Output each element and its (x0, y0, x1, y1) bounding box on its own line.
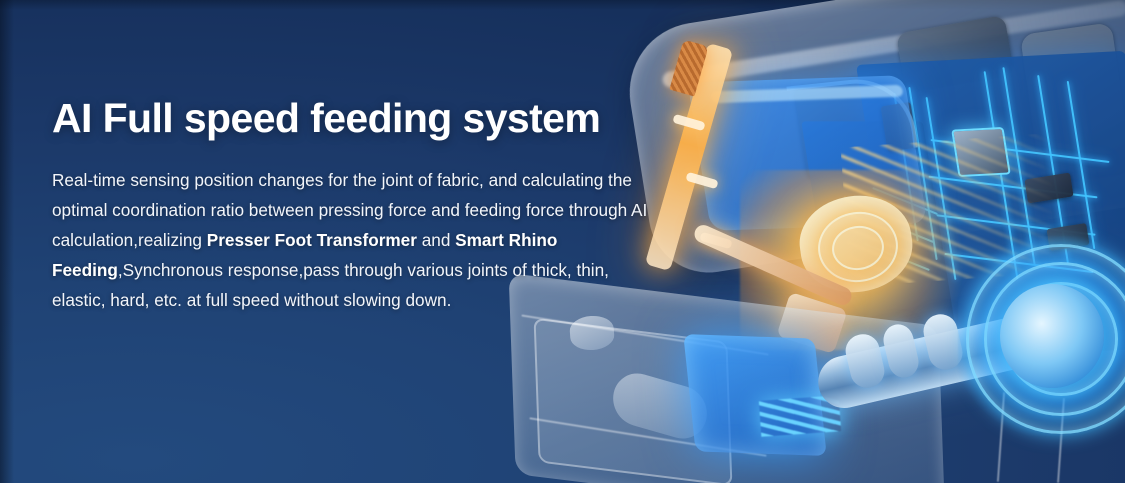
highlight-presser-foot-transformer: Presser Foot Transformer (207, 230, 417, 250)
motor-hub (1000, 284, 1104, 388)
paragraph-segment-3: ,Synchronous response,pass through vario… (52, 260, 609, 310)
copy-block: AI Full speed feeding system Real-time s… (52, 96, 662, 315)
feed-dog-assembly (683, 334, 827, 456)
page-title: AI Full speed feeding system (52, 96, 662, 142)
description-paragraph: Real-time sensing position changes for t… (52, 165, 662, 315)
paragraph-segment-2: and (417, 230, 455, 250)
feature-banner: AI Full speed feeding system Real-time s… (0, 0, 1125, 483)
